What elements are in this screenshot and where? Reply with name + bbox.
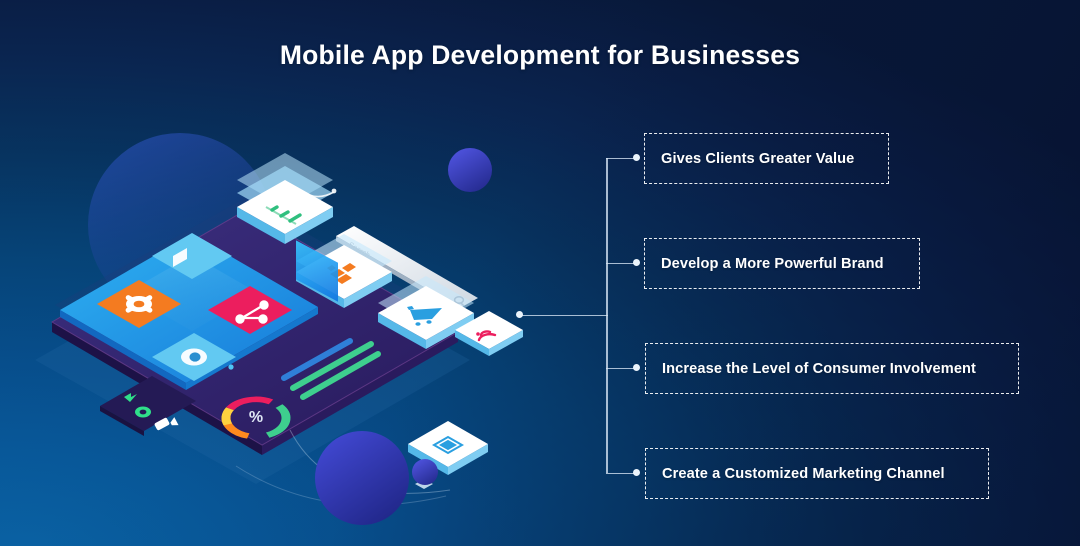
isometric-app-illustration: % Search (0, 60, 600, 530)
benefit-card-4[interactable]: Create a Customized Marketing Channel (645, 448, 989, 499)
benefit-card-3[interactable]: Increase the Level of Consumer Involveme… (645, 343, 1019, 394)
connector-dot-3 (633, 364, 640, 371)
sphere-small (412, 459, 438, 485)
benefit-label-1: Gives Clients Greater Value (645, 151, 854, 167)
connector-origin-dot (516, 311, 523, 318)
connector-stem (522, 315, 608, 317)
camera-icon[interactable] (135, 407, 151, 418)
connector-dot-1 (633, 154, 640, 161)
benefit-card-1[interactable]: Gives Clients Greater Value (644, 133, 889, 184)
benefit-card-2[interactable]: Develop a More Powerful Brand (644, 238, 920, 289)
infographic-canvas: % Search (0, 0, 1080, 546)
benefit-label-4: Create a Customized Marketing Channel (646, 466, 945, 482)
page-title: Mobile App Development for Businesses (0, 40, 1080, 71)
sphere-large (315, 431, 409, 525)
connector-dot-4 (633, 469, 640, 476)
sphere-top (448, 148, 492, 192)
benefit-label-2: Develop a More Powerful Brand (645, 256, 884, 272)
connector-trunk (606, 158, 608, 473)
benefit-label-3: Increase the Level of Consumer Involveme… (646, 361, 976, 377)
orbit-node (228, 364, 233, 369)
donut-label: % (249, 409, 263, 426)
connector-dot-2 (633, 259, 640, 266)
